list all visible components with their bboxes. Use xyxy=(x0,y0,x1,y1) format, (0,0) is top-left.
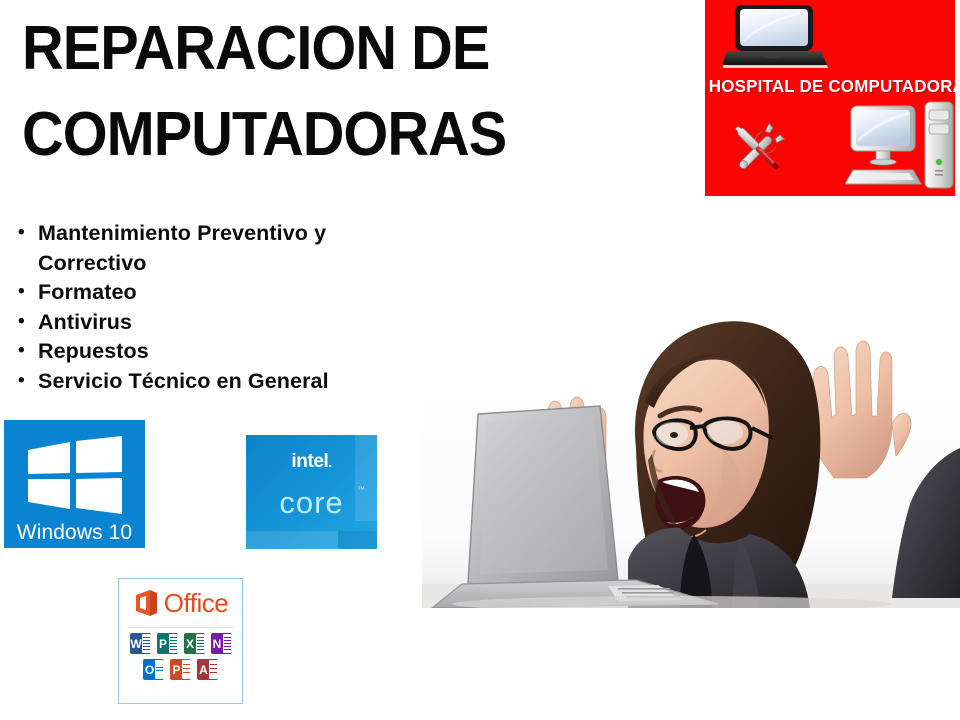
page-lines xyxy=(223,634,232,653)
microsoft-office-card: Office W P X N O P A xyxy=(118,578,243,704)
windows-10-label: Windows 10 xyxy=(4,521,145,545)
intel-core-badge: intel. core ™ xyxy=(246,435,377,549)
hospital-de-computadoras-logo: HOSPITAL DE COMPUTADORAS xyxy=(705,0,955,196)
list-item: Formateo xyxy=(10,278,430,308)
office-app-row-2: O P A xyxy=(119,659,242,680)
office-logo-icon xyxy=(133,589,159,617)
list-item: Servicio Técnico en General xyxy=(10,367,430,397)
onenote-icon: N xyxy=(211,633,232,654)
envelope-shape xyxy=(155,660,164,679)
logo-text: HOSPITAL DE COMPUTADORAS xyxy=(709,76,952,97)
office-divider xyxy=(127,627,234,628)
intel-brand-text: intel xyxy=(291,451,328,472)
list-item: Antivirus xyxy=(10,308,430,338)
list-item: Mantenimiento Preventivo y Correctivo xyxy=(10,219,430,278)
list-item: Repuestos xyxy=(10,337,430,367)
intel-trademark: ™ xyxy=(357,485,365,494)
tower-pc-icon xyxy=(925,102,953,188)
page-lines xyxy=(196,634,205,653)
outlook-icon: O xyxy=(143,659,164,680)
frustrated-woman-at-laptop-photo xyxy=(422,298,960,608)
windows-10-badge: Windows 10 xyxy=(4,420,145,548)
windows-flag-icon xyxy=(26,436,124,514)
office-app-icons: W P X N O P A xyxy=(119,633,242,685)
publisher-icon: P xyxy=(157,633,178,654)
laptop-icon xyxy=(723,4,831,70)
page-lines xyxy=(142,634,151,653)
office-app-row-1: W P X N xyxy=(119,633,242,654)
slide-canvas: REPARACION DE COMPUTADORAS Mantenimiento… xyxy=(0,0,960,720)
intel-brand-dot: . xyxy=(328,455,331,470)
word-icon: W xyxy=(130,633,151,654)
intel-accent-bottom-right xyxy=(338,531,377,549)
page-lines xyxy=(209,660,218,679)
services-list: Mantenimiento Preventivo y Correctivo Fo… xyxy=(10,219,430,396)
page-lines xyxy=(169,634,178,653)
desktop-computer-icon xyxy=(845,100,955,192)
powerpoint-icon: P xyxy=(170,659,191,680)
wrench-screwdriver-icon xyxy=(723,113,795,185)
excel-icon: X xyxy=(184,633,205,654)
page-title: REPARACION DE COMPUTADORAS xyxy=(22,6,654,177)
access-icon: A xyxy=(197,659,218,680)
page-lines xyxy=(182,660,191,679)
office-header: Office xyxy=(119,583,242,623)
intel-brand-wordmark: intel. xyxy=(246,451,377,473)
intel-accent-bottom xyxy=(246,531,338,549)
office-label: Office xyxy=(164,588,228,619)
